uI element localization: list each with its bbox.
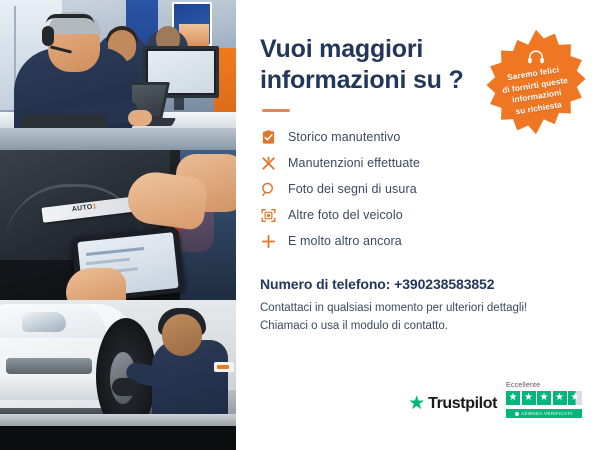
- garage-floor-shape: [0, 426, 236, 450]
- vehicle-inspection-photo: AUTO1: [0, 150, 236, 300]
- trustpilot-star-icon: ★: [408, 394, 425, 413]
- list-item-label: Foto dei segni di usura: [288, 182, 417, 196]
- agent-hand-shape: [128, 110, 152, 126]
- star-icon-half: ★: [568, 391, 582, 405]
- info-panel: Vuoi maggiori informazioni su ? Storico …: [236, 0, 600, 450]
- contact-instructions: Contattaci in qualsiasi momento per ulte…: [260, 300, 576, 336]
- photo-frame-icon: [260, 207, 276, 223]
- tyre-service-photo: [0, 300, 236, 450]
- headset-icon: [527, 48, 546, 67]
- keyboard-shape: [22, 114, 106, 128]
- page-title: Vuoi maggiori informazioni su ?: [260, 34, 470, 95]
- list-item: Manutenzioni effettuate: [260, 150, 576, 176]
- title-divider: [262, 109, 290, 112]
- clipboard-check-icon: [260, 129, 276, 145]
- bumper-shape: [0, 374, 106, 400]
- headlight-shape: [22, 312, 66, 332]
- star-icon: ★: [537, 391, 551, 405]
- mechanic-head-shape: [162, 314, 202, 356]
- verified-label: AZIENDA VERIFICATA: [521, 411, 573, 416]
- list-item-label: Manutenzioni effettuate: [288, 156, 420, 170]
- trustpilot-logo: ★ Trustpilot: [408, 394, 497, 418]
- star-icon: ★: [506, 391, 520, 405]
- monitor-stand-shape: [174, 98, 184, 110]
- star-icon: ★: [553, 391, 567, 405]
- uniform-logo-shape: [214, 362, 234, 372]
- trustpilot-rating-block: Eccellente ★ ★ ★ ★ ★ AZIENDA VERIFICATA: [506, 382, 582, 418]
- feature-list: Storico manutentivo Manutenzioni effettu…: [260, 124, 576, 254]
- list-item: Foto dei segni di usura: [260, 176, 576, 202]
- headset-band-shape: [46, 14, 94, 24]
- contact-line-2: Chiamaci o usa il modulo di contatto.: [260, 320, 448, 332]
- contact-line-1: Contattaci in qualsiasi momento per ulte…: [260, 302, 527, 314]
- list-item-label: Altre foto del veicolo: [288, 208, 403, 222]
- phone-number[interactable]: +390238583852: [394, 276, 494, 292]
- photo-column: AUTO1: [0, 0, 236, 450]
- list-item-label: Storico manutentivo: [288, 130, 400, 144]
- trustpilot-widget[interactable]: ★ Trustpilot Eccellente ★ ★ ★ ★ ★ AZIEND…: [408, 382, 582, 418]
- grille-shape: [6, 358, 92, 374]
- list-item: Altre foto del veicolo: [260, 202, 576, 228]
- mechanic-glove-shape: [112, 378, 138, 396]
- check-icon: [515, 412, 519, 416]
- trustpilot-brand: Trustpilot: [428, 395, 497, 413]
- verified-badge: AZIENDA VERIFICATA: [506, 409, 582, 418]
- headset-cup-shape: [42, 26, 54, 46]
- magnifier-icon: [260, 181, 276, 197]
- callout-badge: Saremo felici di fornirti queste informa…: [482, 28, 590, 136]
- phone-number-line: Numero di telefono: +390238583852: [260, 276, 576, 292]
- inspector-hand-lower-shape: [66, 268, 126, 300]
- call-center-photo: [0, 0, 236, 150]
- phone-label: Numero di telefono:: [260, 276, 390, 292]
- tools-cross-icon: [260, 155, 276, 171]
- plus-icon: [260, 233, 276, 249]
- promo-banner: AUTO1: [0, 0, 600, 450]
- desk-front-shape: [0, 128, 236, 150]
- list-item-label: E molto altro ancora: [288, 234, 402, 248]
- star-rating: ★ ★ ★ ★ ★: [506, 391, 582, 405]
- rating-label: Eccellente: [506, 382, 540, 389]
- car-lift-shape: [0, 414, 236, 426]
- star-icon: ★: [522, 391, 536, 405]
- list-item: E molto altro ancora: [260, 228, 576, 254]
